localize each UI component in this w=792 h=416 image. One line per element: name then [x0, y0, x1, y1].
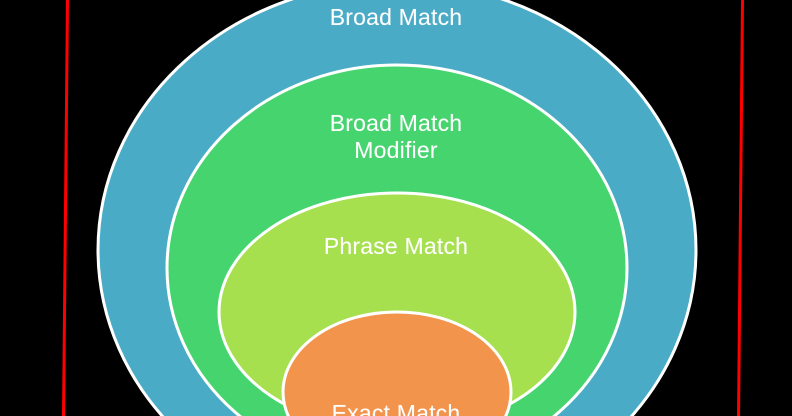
diagram-canvas: Broad Match Broad Match Modifier Phrase … — [0, 0, 792, 416]
nested-ellipse-graphic — [0, 0, 792, 416]
